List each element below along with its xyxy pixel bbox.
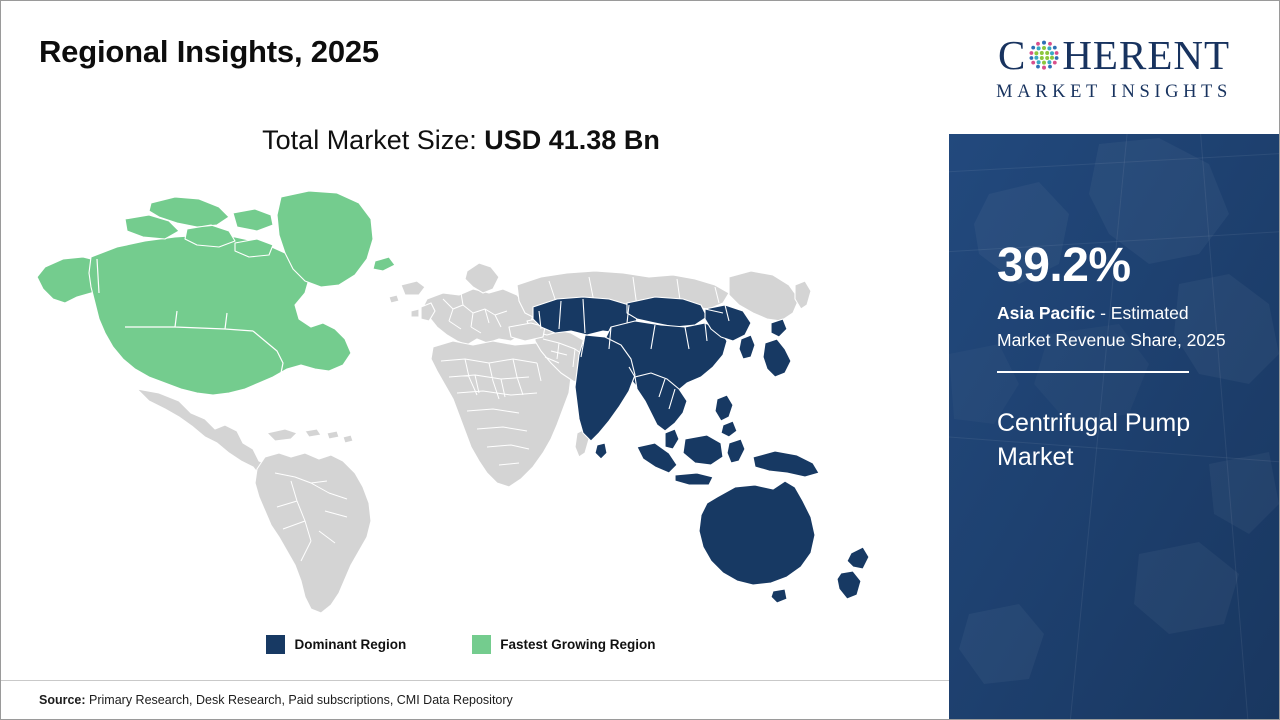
legend-item-dominant: Dominant Region <box>266 635 406 654</box>
page-title: Regional Insights, 2025 <box>39 34 379 70</box>
right-sidebar: C <box>949 1 1279 719</box>
logo-wordmark-top: C <box>998 32 1230 78</box>
market-name: Centrifugal Pump Market <box>997 406 1232 475</box>
map-region-scandinavia <box>465 263 499 293</box>
source-note: Source: Primary Research, Desk Research,… <box>39 693 513 707</box>
map-region-japan <box>763 319 791 377</box>
map-region-philippines <box>715 395 737 437</box>
legend-swatch-fastest-growing <box>472 635 491 654</box>
stat-region-name: Asia Pacific <box>997 303 1095 323</box>
map-region-australia <box>699 481 815 585</box>
map-region-tasmania <box>771 589 787 603</box>
map-region-new-zealand <box>837 547 869 599</box>
map-region-mexico <box>137 389 277 481</box>
source-text: Primary Research, Desk Research, Paid su… <box>89 693 513 707</box>
legend-label-dominant: Dominant Region <box>294 637 406 652</box>
legend-swatch-dominant <box>266 635 285 654</box>
stat-divider-rule <box>997 371 1189 373</box>
map-region-sulawesi <box>727 439 745 463</box>
total-market-size: Total Market Size: USD 41.38 Bn <box>1 125 921 156</box>
logo-word-coherent: HERENT <box>1062 35 1230 76</box>
map-region-java <box>675 473 713 485</box>
legend-label-fastest-growing: Fastest Growing Region <box>500 637 655 652</box>
map-legend: Dominant Region Fastest Growing Region <box>1 635 921 654</box>
map-region-caribbean <box>267 429 353 443</box>
map-region-south-america <box>255 453 371 613</box>
map-region-misc-islands <box>389 295 399 303</box>
world-map-container <box>29 181 909 621</box>
regional-insights-infographic: Regional Insights, 2025 Total Market Siz… <box>0 0 1280 720</box>
legend-item-fastest-growing: Fastest Growing Region <box>472 635 655 654</box>
dotted-globe-icon <box>1027 38 1061 72</box>
market-size-value: USD 41.38 Bn <box>484 125 660 155</box>
market-size-label: Total Market Size: <box>262 125 477 155</box>
map-region-kamchatka <box>795 281 811 309</box>
logo-subtitle: MARKET INSIGHTS <box>996 82 1232 103</box>
map-region-new-guinea <box>753 451 819 477</box>
stat-percent: 39.2% <box>997 242 1247 290</box>
map-region-iceland <box>401 281 425 295</box>
map-region-borneo <box>683 435 723 465</box>
stat-panel: 39.2% Asia Pacific - Estimated Market Re… <box>949 134 1279 719</box>
left-content-pane: Regional Insights, 2025 Total Market Siz… <box>1 1 949 719</box>
map-region-sri-lanka <box>595 443 607 459</box>
map-region-greenland-islets <box>373 257 395 271</box>
logo-letter-c: C <box>998 35 1026 76</box>
stat-panel-content: 39.2% Asia Pacific - Estimated Market Re… <box>997 134 1247 475</box>
source-label: Source: <box>39 693 86 707</box>
footer-divider <box>1 680 949 681</box>
stat-caption: Asia Pacific - Estimated Market Revenue … <box>997 300 1237 354</box>
brand-logo: C <box>949 1 1279 134</box>
world-map <box>29 181 909 621</box>
map-region-korea <box>739 335 755 359</box>
map-region-malay-peninsula <box>665 429 679 449</box>
